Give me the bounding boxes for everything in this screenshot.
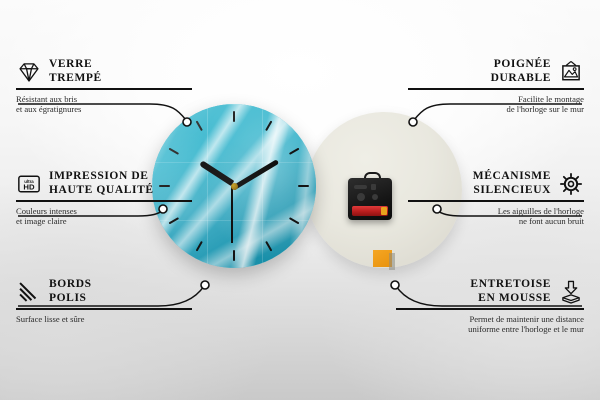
infographic-canvas: VERRE TREMPÉ Résistant aux bris et aux é… — [0, 0, 600, 400]
callout-bords-polis: BORDS POLIS Surface lisse et sûre — [16, 278, 192, 324]
callout-header: MÉCANISME SILENCIEUX — [408, 170, 584, 197]
callout-header: ultra HD IMPRESSION DE HAUTE QUALITÉ — [16, 170, 192, 197]
callout-description: Résistant aux bris et aux égratignures — [16, 94, 192, 115]
mechanism-housing — [348, 178, 392, 220]
callout-divider — [396, 308, 584, 310]
callout-description: Les aiguilles de l'horloge ne font aucun… — [408, 206, 584, 227]
foam-spacer-sample — [373, 250, 392, 267]
mechanism-detail-dot — [357, 193, 365, 201]
mechanism-detail-dot — [372, 194, 378, 200]
callout-title: ENTRETOISE EN MOUSSE — [470, 278, 551, 305]
callout-header: BORDS POLIS — [16, 278, 192, 305]
callout-mecanisme-silencieux: MÉCANISME SILENCIEUX Les aiguilles de l'… — [408, 170, 584, 227]
foam-spacer-icon — [558, 279, 584, 305]
callout-verre-trempe: VERRE TREMPÉ Résistant aux bris et aux é… — [16, 58, 192, 115]
callout-divider — [408, 200, 584, 202]
callout-entretoise-en-mousse: ENTRETOISE EN MOUSSE Permet de maintenir… — [396, 278, 584, 335]
callout-divider — [16, 200, 192, 202]
callout-header: POIGNÉE DURABLE — [408, 58, 584, 85]
callout-description: Surface lisse et sûre — [16, 314, 192, 325]
mechanism-detail-dot — [354, 185, 367, 189]
callout-poignee-durable: POIGNÉE DURABLE Facilite le montage de l… — [408, 58, 584, 115]
callout-title: BORDS POLIS — [49, 278, 92, 305]
gear-icon — [558, 171, 584, 197]
mechanism-detail-dot — [371, 184, 376, 190]
mechanism-battery — [352, 206, 388, 216]
callout-header: VERRE TREMPÉ — [16, 58, 192, 85]
wall-hanger-icon — [558, 59, 584, 85]
callout-title: MÉCANISME SILENCIEUX — [473, 170, 551, 197]
clock-mechanism — [348, 178, 392, 220]
foam-spacer-shadow — [389, 253, 395, 270]
callout-description: Facilite le montage de l'horloge sur le … — [408, 94, 584, 115]
svg-text:HD: HD — [23, 182, 35, 191]
polished-edges-icon — [16, 279, 42, 305]
callout-description: Permet de maintenir une distance uniform… — [396, 314, 584, 335]
callout-title: IMPRESSION DE HAUTE QUALITÉ — [49, 170, 154, 197]
diamond-icon — [16, 59, 42, 85]
callout-divider — [16, 88, 192, 90]
callout-divider — [16, 308, 192, 310]
callout-description: Couleurs intenses et image claire — [16, 206, 192, 227]
callout-impression-haute-qualite: ultra HD IMPRESSION DE HAUTE QUALITÉ Cou… — [16, 170, 192, 227]
ultra-hd-icon: ultra HD — [16, 171, 42, 197]
callout-divider — [408, 88, 584, 90]
callout-title: POIGNÉE DURABLE — [491, 58, 551, 85]
callout-title: VERRE TREMPÉ — [49, 58, 102, 85]
battery-positive-cap — [381, 207, 387, 215]
callout-header: ENTRETOISE EN MOUSSE — [396, 278, 584, 305]
